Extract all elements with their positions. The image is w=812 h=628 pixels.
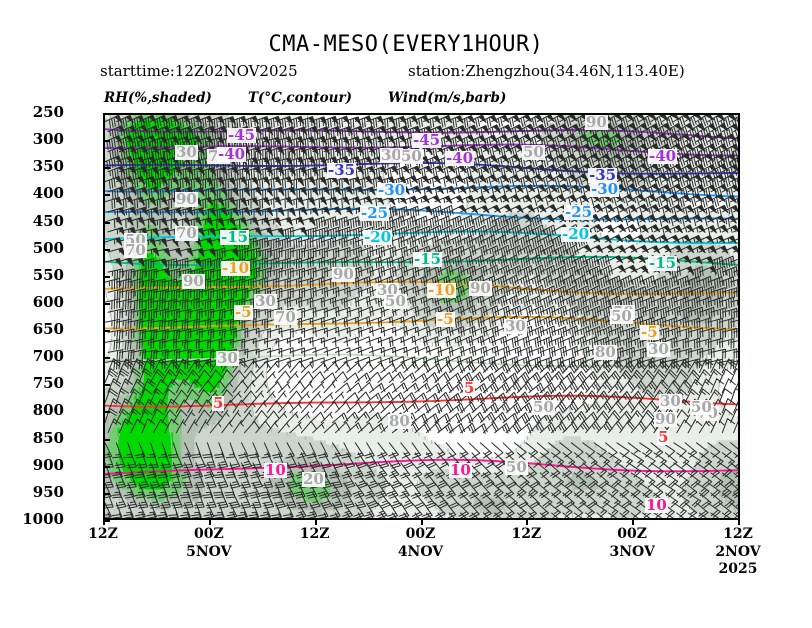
temperature-contour-label: -45 (412, 133, 441, 148)
temperature-contour-label: -45 (227, 128, 256, 143)
x-axis-tick-label: 12Z (68, 526, 138, 544)
y-axis-tick-label: 700 (4, 349, 64, 364)
y-axis-tick (103, 439, 110, 441)
y-axis-tick-label: 500 (4, 241, 64, 256)
temperature-contour-label: -40 (648, 149, 677, 164)
y-axis-tick (103, 222, 110, 224)
rh-contour-label: 90 (654, 412, 677, 427)
temperature-contour-label: 10 (645, 498, 668, 513)
x-axis-tick (209, 518, 211, 525)
y-axis-tick (103, 276, 110, 278)
temperature-contour-label: -10 (427, 283, 456, 298)
temperature-contour-label: -15 (648, 256, 677, 271)
y-axis-tick-label: 250 (4, 105, 64, 120)
rh-contour-label: 30 (254, 294, 277, 309)
y-axis-tick (103, 303, 110, 305)
y-axis-tick-label: 550 (4, 268, 64, 283)
y-axis-tick-label: 850 (4, 431, 64, 446)
legend-rh: RH(%,shaded) (104, 90, 212, 106)
starttime-label: starttime:12Z02NOV2025 (100, 62, 298, 80)
rh-contour-label: 30 (504, 319, 527, 334)
temperature-contour-label: 10 (449, 463, 472, 478)
y-axis-tick-label: 300 (4, 132, 64, 147)
temperature-contour-label: 5 (463, 381, 475, 396)
legend-wind: Wind(m/s,barb) (388, 90, 506, 106)
rh-contour-label: 50 (400, 149, 423, 164)
y-axis-tick (103, 249, 110, 251)
temperature-contour-label: -5 (234, 305, 253, 320)
x-axis-tick (315, 518, 317, 525)
y-axis-tick-label: 450 (4, 214, 64, 229)
temperature-contour-label: 10 (264, 463, 287, 478)
x-axis-tick (526, 518, 528, 525)
rh-contour-label: 50 (690, 400, 713, 415)
rh-contour-label: 50 (384, 294, 407, 309)
rh-contour-label: 90 (585, 115, 608, 130)
x-axis-tick (103, 518, 105, 525)
y-axis-tick-label: 800 (4, 403, 64, 418)
y-axis-tick (103, 140, 110, 142)
temperature-contour-label: -15 (220, 230, 249, 245)
y-axis-tick (103, 466, 110, 468)
y-axis-tick (103, 194, 110, 196)
rh-contour-label: 70 (175, 226, 198, 241)
rh-contour-label: 90 (182, 274, 205, 289)
temperature-contour-label: -5 (436, 312, 455, 327)
y-axis-tick (103, 357, 110, 359)
x-axis-tick-label: 00Z3NOV (597, 526, 667, 561)
temperature-contour-label: -25 (360, 206, 389, 221)
temperature-contour-label: -5 (640, 325, 659, 340)
x-axis-tick-label: 00Z5NOV (174, 526, 244, 561)
rh-contour-label: 80 (594, 345, 617, 360)
y-axis-tick-label: 900 (4, 458, 64, 473)
rh-contour-label: 50 (532, 400, 555, 415)
page-title: CMA-MESO(EVERY1HOUR) (0, 32, 812, 57)
rh-contour-label: 30 (647, 342, 670, 357)
temperature-contour-label: -35 (327, 163, 356, 178)
time-height-cross-section-plot: 9030703050509070507090903030509070505030… (103, 113, 740, 520)
y-axis-tick (103, 167, 110, 169)
rh-contour-label: 20 (302, 472, 325, 487)
y-axis-tick-label: 1000 (4, 512, 64, 527)
rh-contour-label: 90 (175, 192, 198, 207)
y-axis-tick (103, 330, 110, 332)
x-axis-tick (632, 518, 634, 525)
temperature-contour-label: 5 (212, 396, 224, 411)
x-axis-tick (738, 518, 740, 525)
x-axis-tick-label: 12Z (491, 526, 561, 544)
y-axis-tick-label: 350 (4, 159, 64, 174)
temperature-contour-label: -10 (221, 261, 250, 276)
y-axis-tick (103, 113, 110, 115)
temperature-contour-label: -30 (377, 183, 406, 198)
x-axis-tick-label: 12Z (280, 526, 350, 544)
y-axis-tick-label: 650 (4, 322, 64, 337)
temperature-contour-label: 5 (657, 430, 669, 445)
station-label: station:Zhengzhou(34.46N,113.40E) (408, 62, 685, 80)
y-axis-tick-label: 400 (4, 186, 64, 201)
temperature-contour-label: -25 (564, 205, 593, 220)
legend-temperature: T(°C,contour) (248, 90, 352, 106)
rh-contour-label: 70 (124, 243, 147, 258)
rh-contour-label: 50 (505, 460, 528, 475)
rh-contour-label: 50 (610, 309, 633, 324)
rh-contour-label: 90 (469, 281, 492, 296)
temperature-contour-label: -15 (413, 252, 442, 267)
rh-contour-label: 30 (659, 394, 682, 409)
rh-contour-label: 30 (216, 351, 239, 366)
rh-contour-label: 70 (274, 310, 297, 325)
y-axis-tick-label: 750 (4, 376, 64, 391)
x-axis-tick (421, 518, 423, 525)
temperature-contour-label: -30 (590, 182, 619, 197)
rh-contour-label: 50 (522, 145, 545, 160)
rh-contour-label: 80 (388, 414, 411, 429)
temperature-contour-label: -20 (561, 227, 590, 242)
temperature-contour-label: -40 (445, 151, 474, 166)
rh-contour-label: 90 (332, 267, 355, 282)
temperature-contour-label: -20 (363, 230, 392, 245)
rh-contour-label: 30 (175, 145, 198, 160)
y-axis-tick (103, 411, 110, 413)
x-axis-tick-label: 12Z2NOV2025 (703, 526, 773, 579)
y-axis-tick (103, 384, 110, 386)
x-axis-tick-label: 00Z4NOV (386, 526, 456, 561)
contour-label-layer: 9030703050509070507090903030509070505030… (105, 115, 740, 520)
y-axis-tick-label: 950 (4, 485, 64, 500)
y-axis-tick (103, 493, 110, 495)
y-axis-tick-label: 600 (4, 295, 64, 310)
temperature-contour-label: -40 (217, 147, 246, 162)
